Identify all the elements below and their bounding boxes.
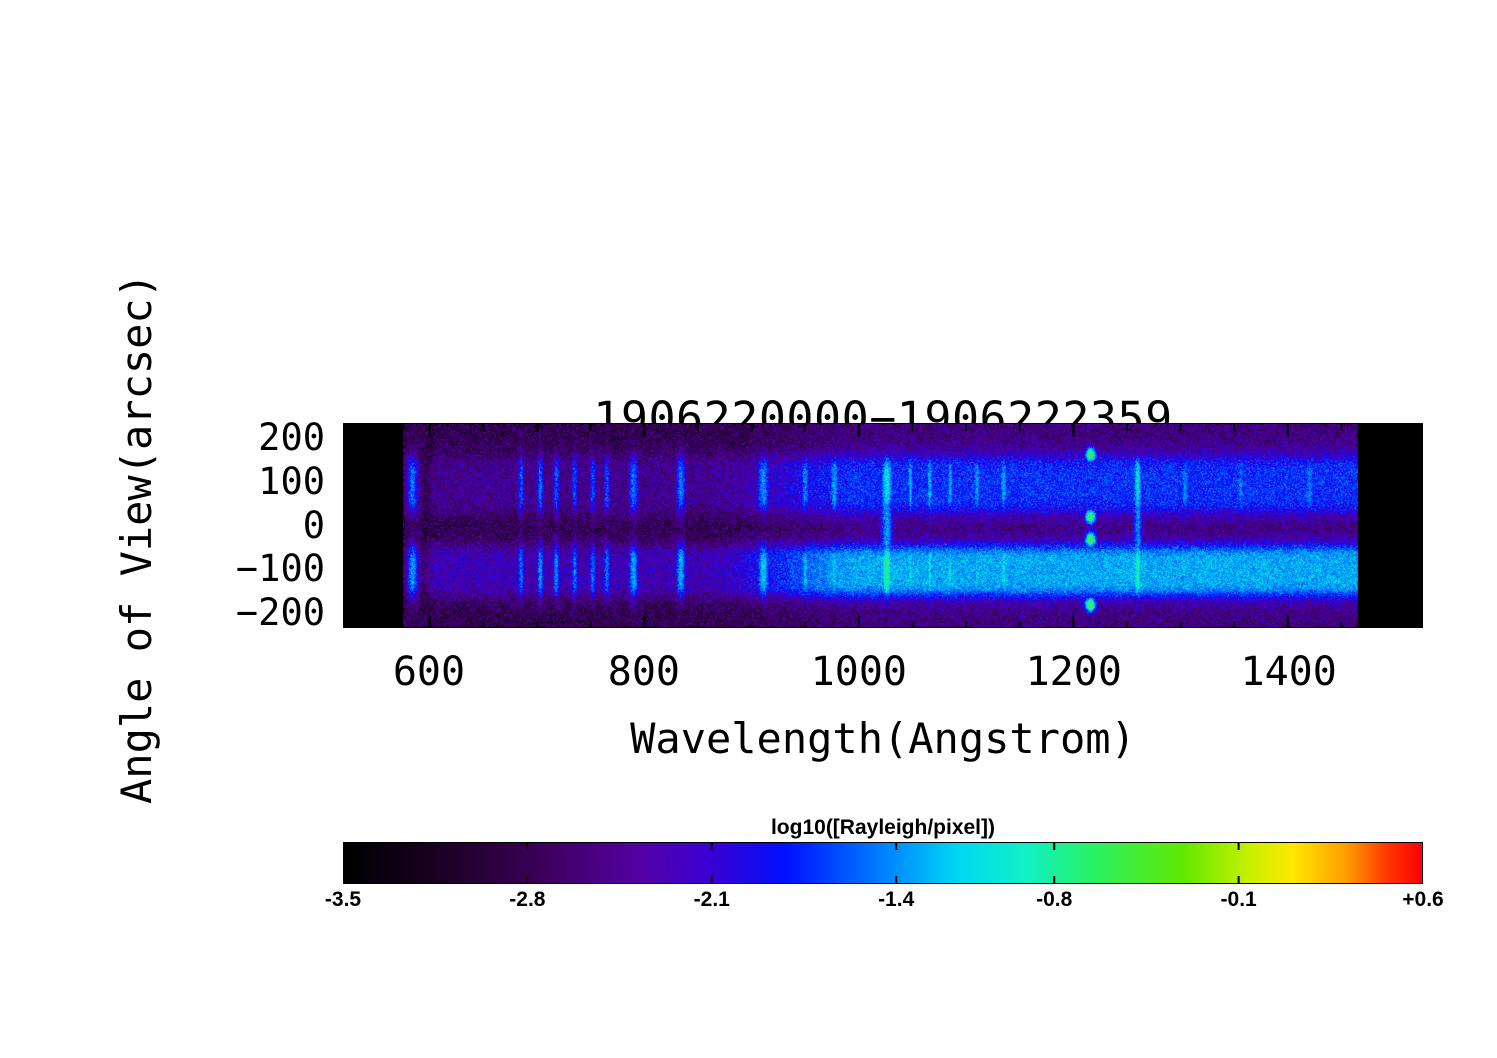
colorbar-tick-label: +0.6 <box>1402 888 1443 912</box>
spectrogram-figure: 1906220000−1906222359 exp time 0633(min)… <box>0 0 1497 1058</box>
x-tick-label: 600 <box>393 650 465 694</box>
colorbar-tick-label: -1.4 <box>878 888 914 912</box>
plot-area <box>343 423 1423 628</box>
colorbar-title: log10([Rayleigh/pixel]) <box>343 816 1423 840</box>
x-tick-label: 1200 <box>1026 650 1122 694</box>
colorbar-tick-label: -0.1 <box>1221 888 1257 912</box>
colorbar-tick-label: -2.8 <box>509 888 545 912</box>
y-axis-title: Angle of View(arcsec) <box>107 274 167 804</box>
spectrogram-canvas <box>344 424 1422 627</box>
x-tick-label: 1400 <box>1240 650 1336 694</box>
colorbar-tick-label: -3.5 <box>325 888 361 912</box>
colorbar-gradient <box>343 842 1423 884</box>
spectrogram-heatmap <box>344 424 1422 627</box>
x-tick-label: 800 <box>608 650 680 694</box>
x-tick-label: 1000 <box>811 650 907 694</box>
colorbar-tick-label: -2.1 <box>694 888 730 912</box>
x-axis-title: Wavelength(Angstrom) <box>343 714 1423 763</box>
colorbar <box>343 842 1423 884</box>
colorbar-tick-label: -0.8 <box>1036 888 1072 912</box>
